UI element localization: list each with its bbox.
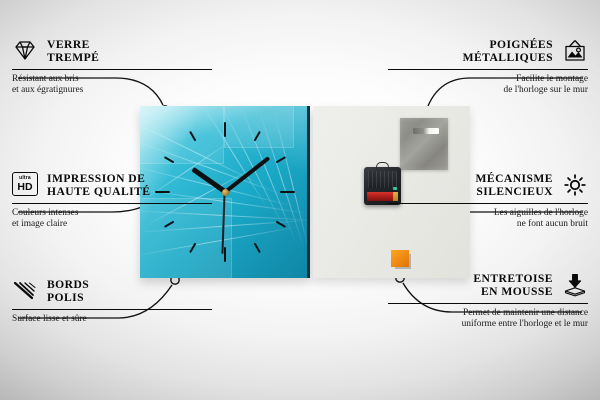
feature-title: VERRE TREMPÉ — [47, 38, 99, 65]
handle-slot — [413, 128, 439, 134]
feature-verre-trempe: VERRE TREMPÉ Résistant aux bris et aux é… — [12, 38, 212, 97]
feature-divider — [12, 309, 212, 310]
foam-spacer — [391, 250, 409, 267]
clock-minute-hand — [224, 156, 270, 193]
polished-edges-icon — [12, 278, 38, 304]
feature-divider — [12, 69, 212, 70]
feature-title: BORDS POLIS — [47, 278, 89, 305]
tick-3 — [225, 191, 295, 193]
feature-header: MÉCANISME SILENCIEUX — [388, 172, 588, 199]
feature-divider — [12, 203, 212, 204]
clock-center-pin — [222, 189, 229, 196]
metal-handle-plate — [400, 118, 448, 170]
feature-title: MÉCANISME SILENCIEUX — [476, 172, 553, 199]
feature-header: ENTRETOISE EN MOUSSE — [388, 272, 588, 299]
hd-icon-hd-label: HD — [17, 182, 32, 193]
feature-description: Surface lisse et sûre — [12, 314, 212, 325]
arrow-down-pad-icon — [562, 272, 588, 298]
feature-header: BORDS POLIS — [12, 278, 212, 305]
tick-1 — [224, 131, 261, 193]
feature-title: ENTRETOISE EN MOUSSE — [473, 272, 553, 299]
diamond-icon — [12, 38, 38, 64]
feature-description: Les aiguilles de l'horloge ne font aucun… — [388, 208, 588, 231]
feature-description: Couleurs intenses et image claire — [12, 208, 212, 231]
feature-impression-haute-qualite: ultra HD IMPRESSION DE HAUTE QUALITÉ Cou… — [12, 172, 212, 231]
ultra-hd-icon: ultra HD — [12, 172, 38, 198]
tick-12 — [224, 122, 226, 192]
feature-description: Résistant aux bris et aux égratignures — [12, 74, 212, 97]
feature-title: IMPRESSION DE HAUTE QUALITÉ — [47, 172, 150, 199]
feature-divider — [388, 69, 588, 70]
feature-description: Facilite le montage de l'horloge sur le … — [388, 74, 588, 97]
feature-divider — [388, 203, 588, 204]
feature-entretoise-en-mousse: ENTRETOISE EN MOUSSE Permet de maintenir… — [388, 272, 588, 331]
feature-description: Permet de maintenir une distance uniform… — [388, 308, 588, 331]
feature-poignees-metalliques: POIGNÉES MÉTALLIQUES Facilite le montage… — [388, 38, 588, 97]
feature-divider — [388, 303, 588, 304]
feature-bords-polis: BORDS POLIS Surface lisse et sûre — [12, 278, 212, 325]
feature-header: ultra HD IMPRESSION DE HAUTE QUALITÉ — [12, 172, 212, 199]
feature-title: POIGNÉES MÉTALLIQUES — [463, 38, 553, 65]
feature-header: VERRE TREMPÉ — [12, 38, 212, 65]
mechanism-hanger-loop — [376, 162, 389, 170]
infographic-canvas: VERRE TREMPÉ Résistant aux bris et aux é… — [0, 0, 600, 400]
feature-mecanisme-silencieux: MÉCANISME SILENCIEUX Les aiguilles de l'… — [388, 172, 588, 231]
hanging-frame-icon — [562, 38, 588, 64]
feature-header: POIGNÉES MÉTALLIQUES — [388, 38, 588, 65]
gear-icon — [562, 172, 588, 198]
